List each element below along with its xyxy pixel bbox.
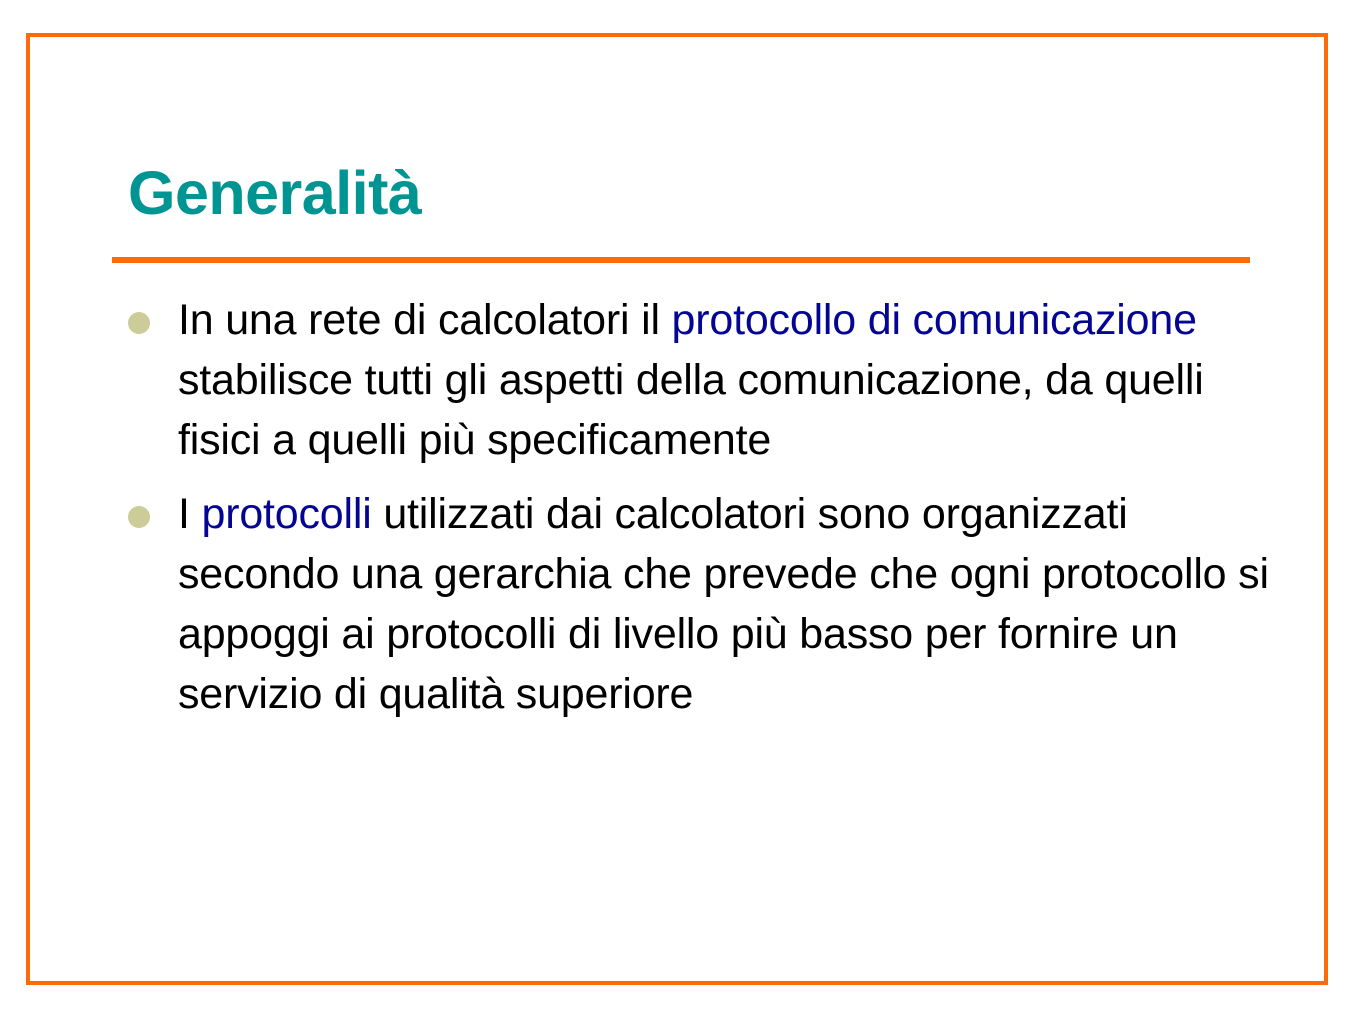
text-segment-keyword: protocollo di comunicazione [672, 296, 1197, 344]
title-divider [112, 257, 1250, 263]
disc-bullet-icon [128, 506, 150, 528]
disc-bullet-icon [128, 312, 150, 334]
list-item: In una rete di calcolatori il protocollo… [112, 290, 1292, 470]
list-item: I protocolli utilizzati dai calcolatori … [112, 484, 1292, 724]
text-segment-plain: In una rete di calcolatori il [178, 296, 672, 344]
list-item-text: I protocolli utilizzati dai calcolatori … [178, 484, 1292, 724]
list-item-text: In una rete di calcolatori il protocollo… [178, 290, 1292, 470]
slide-canvas: Generalità In una rete di calcolatori il… [0, 0, 1350, 1012]
text-segment-keyword: protocolli [202, 490, 372, 538]
title-block: Generalità [112, 155, 1252, 263]
bullet-list: In una rete di calcolatori il protocollo… [112, 290, 1292, 724]
text-segment-plain: I [178, 490, 202, 538]
text-segment-plain: stabilisce tutti gli aspetti della comun… [178, 356, 1204, 464]
page-title: Generalità [112, 155, 1252, 231]
